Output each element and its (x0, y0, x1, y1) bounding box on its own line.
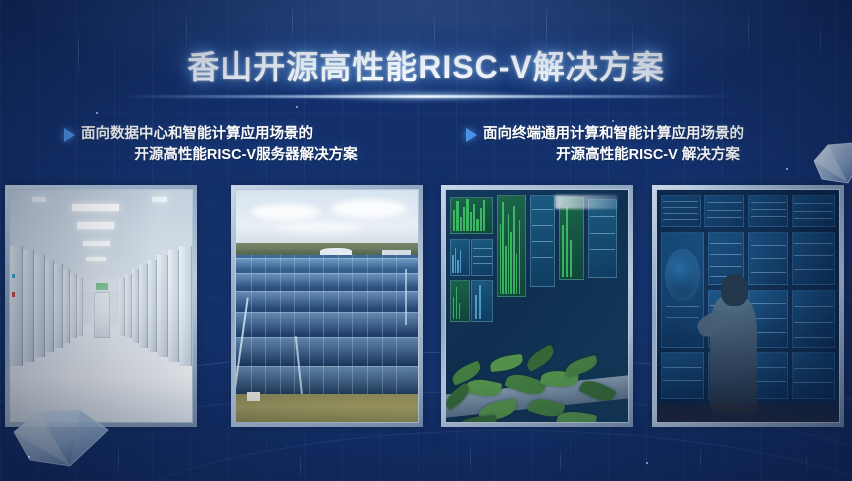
slide-root: 香山开源高性能RISC-V解决方案 面向数据中心和智能计算应用场景的 开源高性能… (0, 0, 852, 481)
sparkle-dot (612, 120, 614, 122)
sparkle-dot (786, 168, 788, 170)
sparkle-dot (96, 112, 98, 114)
sparkle-dot (296, 106, 298, 108)
sparkle-dot (28, 456, 30, 458)
sparkle-dot (646, 462, 648, 464)
background-vignette (0, 0, 852, 481)
